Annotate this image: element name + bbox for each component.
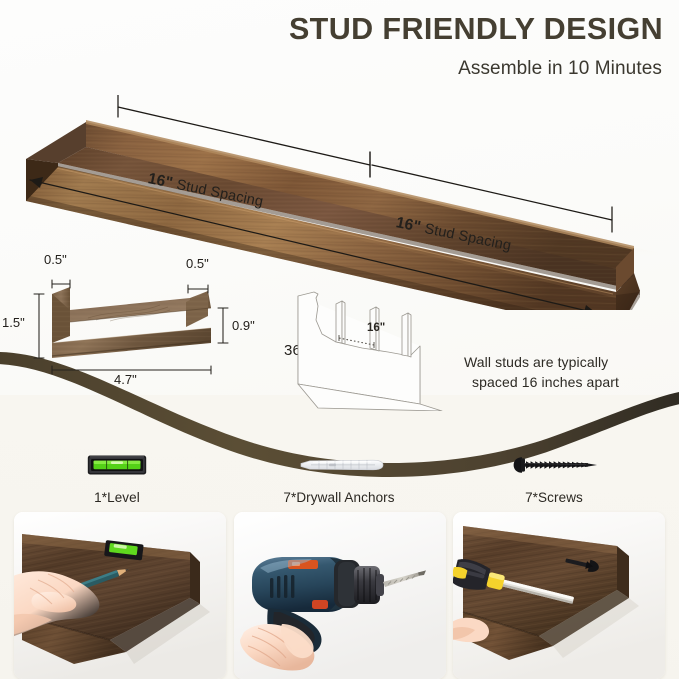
- screw-icon-svg: [508, 454, 600, 476]
- level-icon: [22, 450, 212, 480]
- dimension-value-right: 16": [394, 214, 422, 236]
- cross-section-label-inner-height: 0.9": [232, 318, 255, 333]
- accessory-caption-level: 1*Level: [22, 490, 212, 505]
- dimension-value-left: 16": [146, 170, 174, 192]
- accessories-row: 1*Level: [0, 450, 679, 502]
- accessory-item-screws: 7*Screws: [459, 450, 649, 505]
- stud-spacing-callout: 16": [367, 322, 385, 334]
- installation-steps: [0, 512, 679, 679]
- screwdriver-photo: [453, 512, 665, 679]
- wall-stud-note: Wall studs are typically spaced 16 inche…: [464, 352, 664, 393]
- drywall-anchor-icon: [244, 450, 434, 480]
- cross-section-label-depth: 4.7": [114, 372, 137, 387]
- accessory-item-anchors: 7*Drywall Anchors: [244, 450, 434, 505]
- install-step-photo-2: [234, 512, 446, 679]
- wall-note-line2: spaced 16 inches apart: [464, 372, 664, 392]
- accessory-caption-anchors: 7*Drywall Anchors: [244, 490, 434, 505]
- screw-icon: [459, 450, 649, 480]
- cross-section-label-lip-left: 0.5": [44, 252, 67, 267]
- wall-stud-diagram: [292, 286, 472, 411]
- accessory-caption-screws: 7*Screws: [459, 490, 649, 505]
- cross-section-label-height: 1.5": [2, 315, 25, 330]
- infographic-canvas: STUD FRIENDLY DESIGN Assemble in 10 Minu…: [0, 0, 679, 679]
- cross-section-diagram: 0.5" 0.5" 1.5" 0.9" 4.7": [18, 258, 258, 378]
- wall-stud-svg: [292, 286, 472, 411]
- drilling-photo: [234, 512, 446, 679]
- cross-section-label-lip-right: 0.5": [186, 256, 209, 271]
- page-subtitle: Assemble in 10 Minutes: [458, 58, 662, 80]
- pencil-marking-photo: [14, 512, 226, 679]
- install-step-photo-3: [453, 512, 665, 679]
- accessory-item-level: 1*Level: [22, 450, 212, 505]
- install-step-photo-1: [14, 512, 226, 679]
- cross-section-svg: [18, 258, 258, 378]
- page-title: STUD FRIENDLY DESIGN: [289, 14, 663, 45]
- level-icon-svg: [87, 453, 147, 477]
- wall-note-line1: Wall studs are typically: [464, 354, 608, 370]
- drywall-anchor-icon-svg: [293, 454, 385, 476]
